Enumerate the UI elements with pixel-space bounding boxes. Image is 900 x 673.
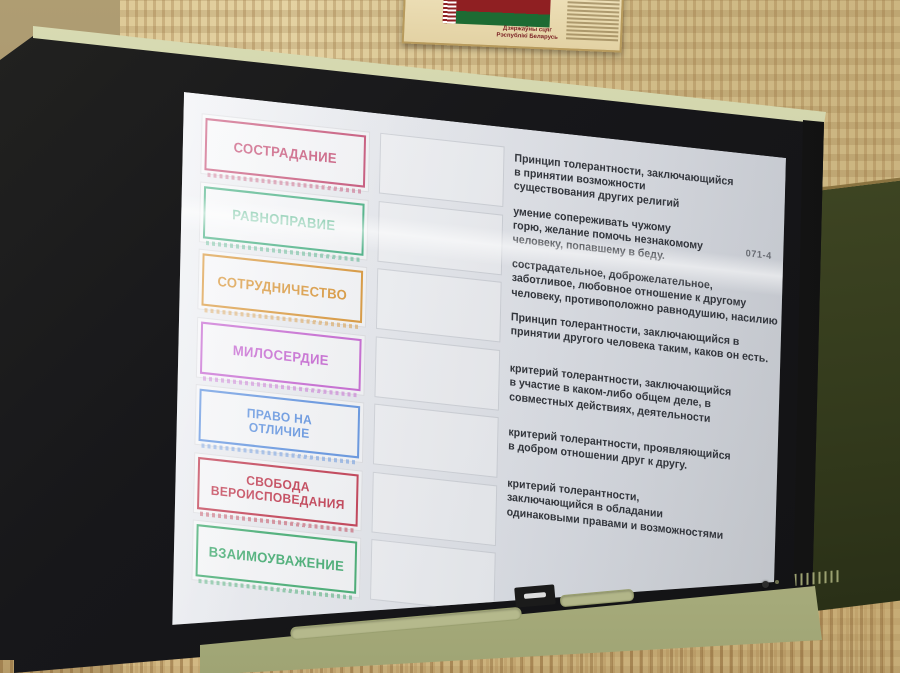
answer-slot[interactable] — [372, 471, 498, 545]
term-label: ПРАВО НА ОТЛИЧИЕ — [246, 406, 312, 441]
answer-slot[interactable] — [376, 268, 502, 342]
term-cell[interactable]: РАВНОПРАВИЕ — [199, 181, 369, 260]
poster-caption-line2: Рэспублікі Беларусь — [496, 32, 558, 41]
term-label: МИЛОСЕРДИЕ — [233, 343, 329, 368]
answer-slot[interactable] — [373, 404, 499, 478]
term-label: СВОБОДА ВЕРОИСПОВЕДАНИЯ — [211, 470, 345, 512]
flag-ornament-icon — [443, 0, 458, 24]
answer-slot[interactable] — [374, 336, 500, 410]
belarus-flag-poster: РУСЬ Дзяржаўны сцяг Рэспублікі Беларусь — [402, 0, 625, 53]
term-label: СОСТРАДАНИЕ — [233, 140, 337, 166]
term-cell[interactable]: ВЗАИМОУВАЖЕНИЕ — [191, 519, 361, 598]
answer-slot[interactable] — [377, 200, 503, 274]
terms-column: СОСТРАДАНИЕ РАВНОПРАВИЕ СОТРУДНИЧЕСТВО — [191, 113, 370, 605]
display-screen[interactable]: 071-4 СОСТРАДАНИЕ РАВНОПРАВИЕ — [172, 92, 786, 673]
term-cell[interactable]: СОТРУДНИЧЕСТВО — [197, 249, 367, 328]
pen-tray-notch — [514, 584, 556, 607]
definition-item: критерий толерантности, заключающийся в … — [507, 477, 767, 548]
term-label: РАВНОПРАВИЕ — [232, 207, 335, 233]
classroom-photo-scene: РУСЬ Дзяржаўны сцяг Рэспублікі Беларусь … — [0, 0, 900, 673]
term-cell[interactable]: МИЛОСЕРДИЕ — [196, 316, 366, 395]
term-cell[interactable]: СВОБОДА ВЕРОИСПОВЕДАНИЯ — [193, 452, 363, 531]
answer-slot[interactable] — [370, 539, 496, 613]
definition-item: критерий толерантности, проявляющийся в … — [508, 426, 767, 483]
term-cell[interactable]: СОСТРАДАНИЕ — [200, 113, 370, 192]
ir-sensor-icon — [775, 580, 779, 584]
term-cell[interactable]: ПРАВО НА ОТЛИЧИЕ — [194, 384, 364, 463]
definitions-column: Принцип толерантности, заключающийся в п… — [506, 152, 773, 559]
power-led-icon — [762, 581, 769, 588]
definition-item: критерий толерантности, заключающийся в … — [509, 362, 769, 433]
term-label: ВЗАИМОУВАЖЕНИЕ — [209, 544, 345, 574]
presentation-slide: 071-4 СОСТРАДАНИЕ РАВНОПРАВИЕ — [172, 92, 786, 673]
answer-slot[interactable] — [379, 133, 505, 207]
answer-slots-column — [370, 133, 505, 620]
term-label: СОТРУДНИЧЕСТВО — [217, 274, 347, 303]
